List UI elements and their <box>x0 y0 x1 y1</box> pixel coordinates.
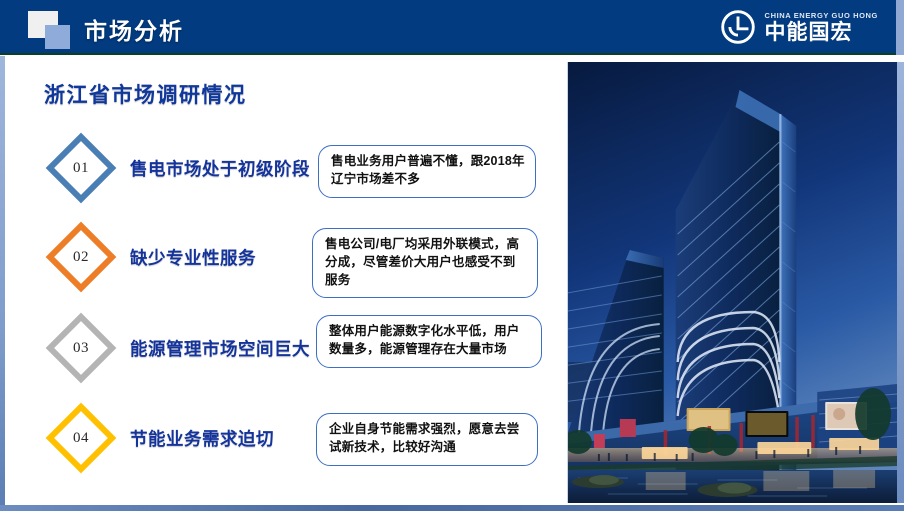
diamond-badge-03: 03 <box>42 312 120 384</box>
content-column: 浙江省市场调研情况 01 售电市场处于初级阶段 售电业务用户普遍不懂，跟2018… <box>0 57 566 505</box>
diamond-badge-02: 02 <box>42 221 120 293</box>
item-callout-bubble: 售电业务用户普遍不懂，跟2018年辽宁市场差不多 <box>318 145 536 198</box>
header-right-accent <box>896 0 904 55</box>
logo-chinese-name: 中能国宏 <box>765 22 878 43</box>
diamond-badge-01: 01 <box>42 132 120 204</box>
page-title: 市场分析 <box>84 12 184 46</box>
company-logo: CHINA ENERGY GUO HONG 中能国宏 <box>720 9 878 45</box>
item-number: 04 <box>73 430 89 447</box>
header-decor-squares <box>28 11 74 49</box>
logo-english-name: CHINA ENERGY GUO HONG <box>765 11 878 20</box>
item-number: 02 <box>73 249 89 266</box>
city-skyline-night-photo <box>567 62 897 503</box>
item-label: 节能业务需求迫切 <box>130 426 274 451</box>
list-item[interactable]: 01 售电市场处于初级阶段 售电业务用户普遍不懂，跟2018年辽宁市场差不多 <box>0 129 566 207</box>
square-blue-icon <box>45 25 70 49</box>
item-callout-bubble: 售电公司/电厂均采用外联模式，高分成，尽管差价大用户也感受不到服务 <box>312 228 538 298</box>
item-callout-bubble: 企业自身节能需求强烈，愿意去尝试新技术，比较好沟通 <box>316 413 538 466</box>
item-number: 03 <box>73 340 89 357</box>
left-edge-accent <box>0 56 5 506</box>
photo-right-accent <box>897 62 904 503</box>
list-item[interactable]: 04 节能业务需求迫切 企业自身节能需求强烈，愿意去尝试新技术，比较好沟通 <box>0 397 566 479</box>
bottom-edge-accent <box>0 505 904 511</box>
item-label: 能源管理市场空间巨大 <box>130 336 310 361</box>
item-callout-bubble: 整体用户能源数字化水平低，用户数量多，能源管理存在大量市场 <box>316 315 542 368</box>
list-item[interactable]: 02 缺少专业性服务 售电公司/电厂均采用外联模式，高分成，尽管差价大用户也感受… <box>0 218 566 296</box>
section-title: 浙江省市场调研情况 <box>44 79 247 109</box>
logo-text-block: CHINA ENERGY GUO HONG 中能国宏 <box>765 11 878 43</box>
list-item[interactable]: 03 能源管理市场空间巨大 整体用户能源数字化水平低，用户数量多，能源管理存在大… <box>0 307 566 389</box>
header-bar: 市场分析 CHINA ENERGY GUO HONG 中能国宏 <box>0 0 904 55</box>
item-label: 售电市场处于初级阶段 <box>130 156 310 181</box>
slide: 市场分析 CHINA ENERGY GUO HONG 中能国宏 浙江省市场调研情… <box>0 0 904 511</box>
diamond-badge-04: 04 <box>42 402 120 474</box>
item-number: 01 <box>73 160 89 177</box>
item-label: 缺少专业性服务 <box>130 245 256 270</box>
circle-g-logo-icon <box>720 9 756 45</box>
